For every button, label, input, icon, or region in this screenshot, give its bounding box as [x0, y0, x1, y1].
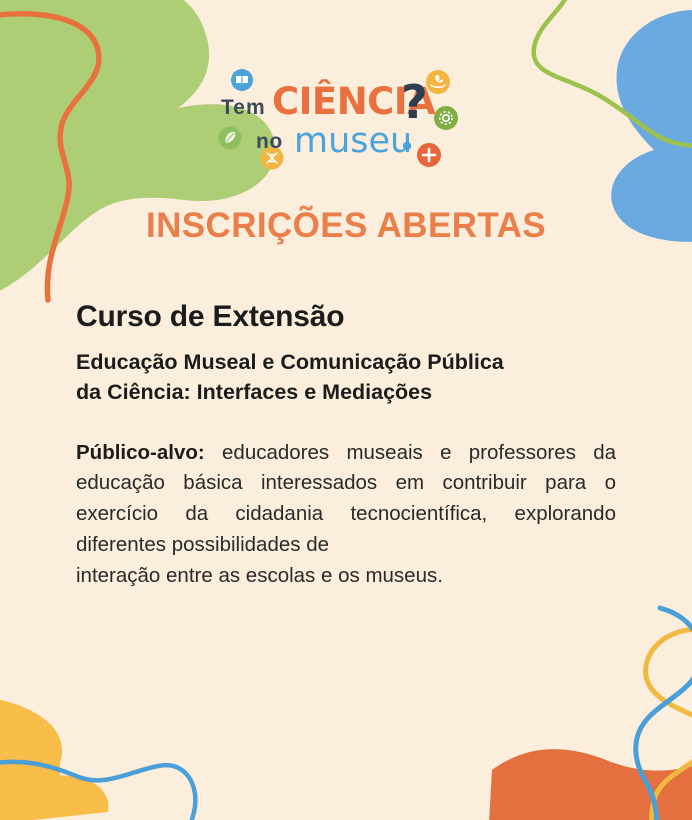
logo-artwork: Tem CIÊNCIA ? no museu — [216, 62, 476, 172]
audience-line-1: educadores museais e professores — [205, 441, 576, 464]
headline-inscricoes-abertas: INSCRIÇÕES ABERTAS — [0, 206, 692, 246]
gear-badge-icon — [434, 106, 458, 130]
partner-logos-row: REDE DE MUSEUS e Espaços de Ciências e C… — [0, 660, 692, 750]
plus-badge-icon — [417, 143, 441, 167]
course-title-line-2: da Ciência: Interfaces e Mediações — [76, 377, 616, 408]
course-title: Educação Museal e Comunicação Pública da… — [76, 347, 616, 408]
logo-word-museu: museu — [294, 121, 412, 161]
audience-label: Público-alvo: — [76, 441, 205, 464]
logo-word-no: no — [256, 130, 283, 153]
leaf-badge-icon — [219, 127, 242, 150]
course-title-line-1: Educação Museal e Comunicação Pública — [76, 350, 504, 374]
audience-line-5: interação entre as escolas e os museus. — [76, 561, 616, 592]
logo-dot — [403, 142, 411, 150]
course-info-block: Curso de Extensão Educação Museal e Comu… — [76, 300, 616, 591]
audience-paragraph: Público-alvo: educadores museais e profe… — [76, 438, 616, 592]
logo-word-tem: Tem — [221, 96, 266, 119]
book-badge-icon — [231, 69, 253, 91]
course-label: Curso de Extensão — [76, 300, 616, 335]
poster-canvas: Tem CIÊNCIA ? no museu INSCRIÇÕES ABERTA… — [0, 0, 692, 820]
tem-ciencia-no-museu-logo: Tem CIÊNCIA ? no museu — [0, 62, 692, 172]
